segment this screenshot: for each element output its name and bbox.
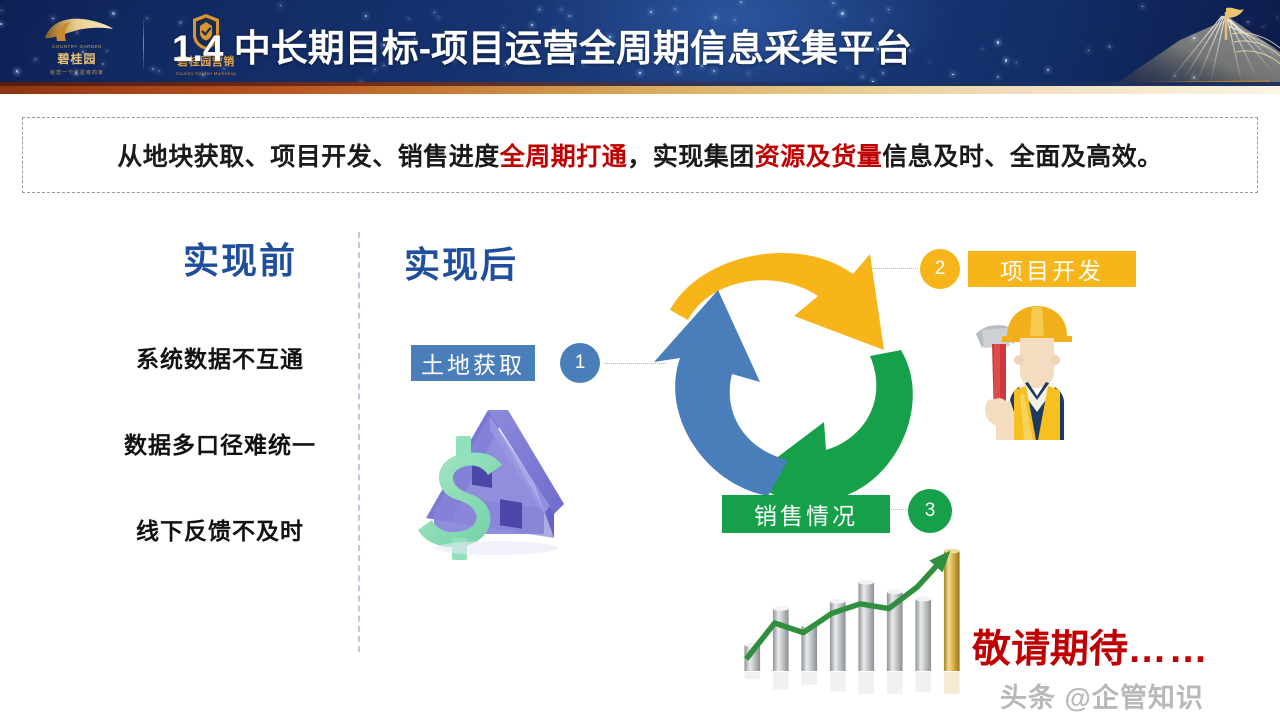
bar-top bbox=[830, 599, 846, 604]
bar bbox=[858, 582, 874, 671]
after-column-title: 实现后 bbox=[404, 236, 518, 288]
node-badge-3: 3 bbox=[908, 489, 952, 533]
banner-segment-1: 全周期打通 bbox=[500, 143, 628, 171]
node-label-project-development[interactable]: 项目开发 bbox=[968, 251, 1136, 287]
node-badge-1: 1 bbox=[560, 343, 600, 383]
node-badge-2: 2 bbox=[920, 249, 960, 289]
before-item-list: 系统数据不互通 数据多口径难统一 线下反馈不及时 bbox=[80, 340, 360, 598]
bar bbox=[944, 551, 960, 671]
coming-soon-text: 敬请期待…… bbox=[971, 618, 1211, 674]
cycle-arrow-blue bbox=[654, 290, 788, 496]
logo-divider bbox=[143, 18, 144, 70]
slide-header: COUNTRY GARDEN 碧桂园 给您一个五星级的家 碧桂园营销 Count… bbox=[0, 0, 1280, 88]
list-item: 线下反馈不及时 bbox=[80, 512, 360, 546]
banner-segment-4: 信息及时、全面及高效。 bbox=[882, 143, 1163, 171]
node-label-sales-status[interactable]: 销售情况 bbox=[722, 495, 890, 533]
summary-banner-text: 从地块获取、项目开发、销售进度全周期打通，实现集团资源及货量信息及时、全面及高效… bbox=[117, 137, 1163, 173]
summary-banner: 从地块获取、项目开发、销售进度全周期打通，实现集团资源及货量信息及时、全面及高效… bbox=[22, 117, 1258, 193]
connector-line-2 bbox=[862, 268, 918, 269]
banner-segment-3: 资源及货量 bbox=[755, 143, 883, 171]
node-label-land-acquisition[interactable]: 土地获取 bbox=[411, 345, 535, 381]
construction-worker-icon bbox=[962, 300, 1112, 440]
bar-top bbox=[773, 606, 789, 611]
golden-mountain-decoration bbox=[1110, 0, 1280, 88]
swirl-icon bbox=[37, 14, 117, 42]
slide-root: COUNTRY GARDEN 碧桂园 给您一个五星级的家 碧桂园营销 Count… bbox=[0, 0, 1280, 720]
bar-reflection bbox=[801, 672, 817, 685]
bar-top bbox=[915, 597, 931, 602]
house-money-icon bbox=[404, 392, 594, 562]
connector-line-1 bbox=[604, 363, 666, 364]
list-item: 系统数据不互通 bbox=[80, 340, 360, 374]
bar-reflection bbox=[744, 672, 760, 679]
bar-reflection bbox=[858, 672, 874, 694]
bar-reflection bbox=[915, 672, 931, 692]
coming-soon-label: 敬请期待 bbox=[971, 628, 1129, 671]
cycle-diagram bbox=[648, 238, 938, 528]
bar-reflection bbox=[887, 672, 903, 694]
banner-segment-0: 从地块获取、项目开发、销售进度 bbox=[117, 143, 500, 171]
bar-top bbox=[887, 589, 903, 594]
growth-bar-chart-icon bbox=[726, 535, 976, 695]
bar-top bbox=[858, 580, 874, 585]
coming-soon-dots: …… bbox=[1127, 628, 1211, 671]
bar-reflection bbox=[830, 672, 846, 691]
connector-line-3 bbox=[888, 509, 910, 510]
header-gold-stripe bbox=[0, 86, 1280, 94]
logo-chinese-text: 碧桂园 bbox=[57, 50, 96, 67]
logo-english-text: COUNTRY GARDEN bbox=[52, 44, 102, 49]
before-column-title: 实现前 bbox=[140, 232, 340, 284]
bar-reflection bbox=[773, 672, 789, 689]
watermark: 头条 @企管知识 bbox=[1000, 676, 1204, 715]
bar-reflection bbox=[944, 672, 960, 694]
list-item: 数据多口径难统一 bbox=[80, 426, 360, 460]
bar bbox=[915, 599, 931, 671]
country-garden-logo: COUNTRY GARDEN 碧桂园 给您一个五星级的家 bbox=[18, 14, 136, 76]
bar bbox=[773, 609, 789, 671]
logo-tagline: 给您一个五星级的家 bbox=[50, 69, 104, 76]
banner-segment-2: ，实现集团 bbox=[627, 143, 755, 171]
page-title: 1.4 中长期目标-项目运营全周期信息采集平台 bbox=[172, 14, 1072, 76]
